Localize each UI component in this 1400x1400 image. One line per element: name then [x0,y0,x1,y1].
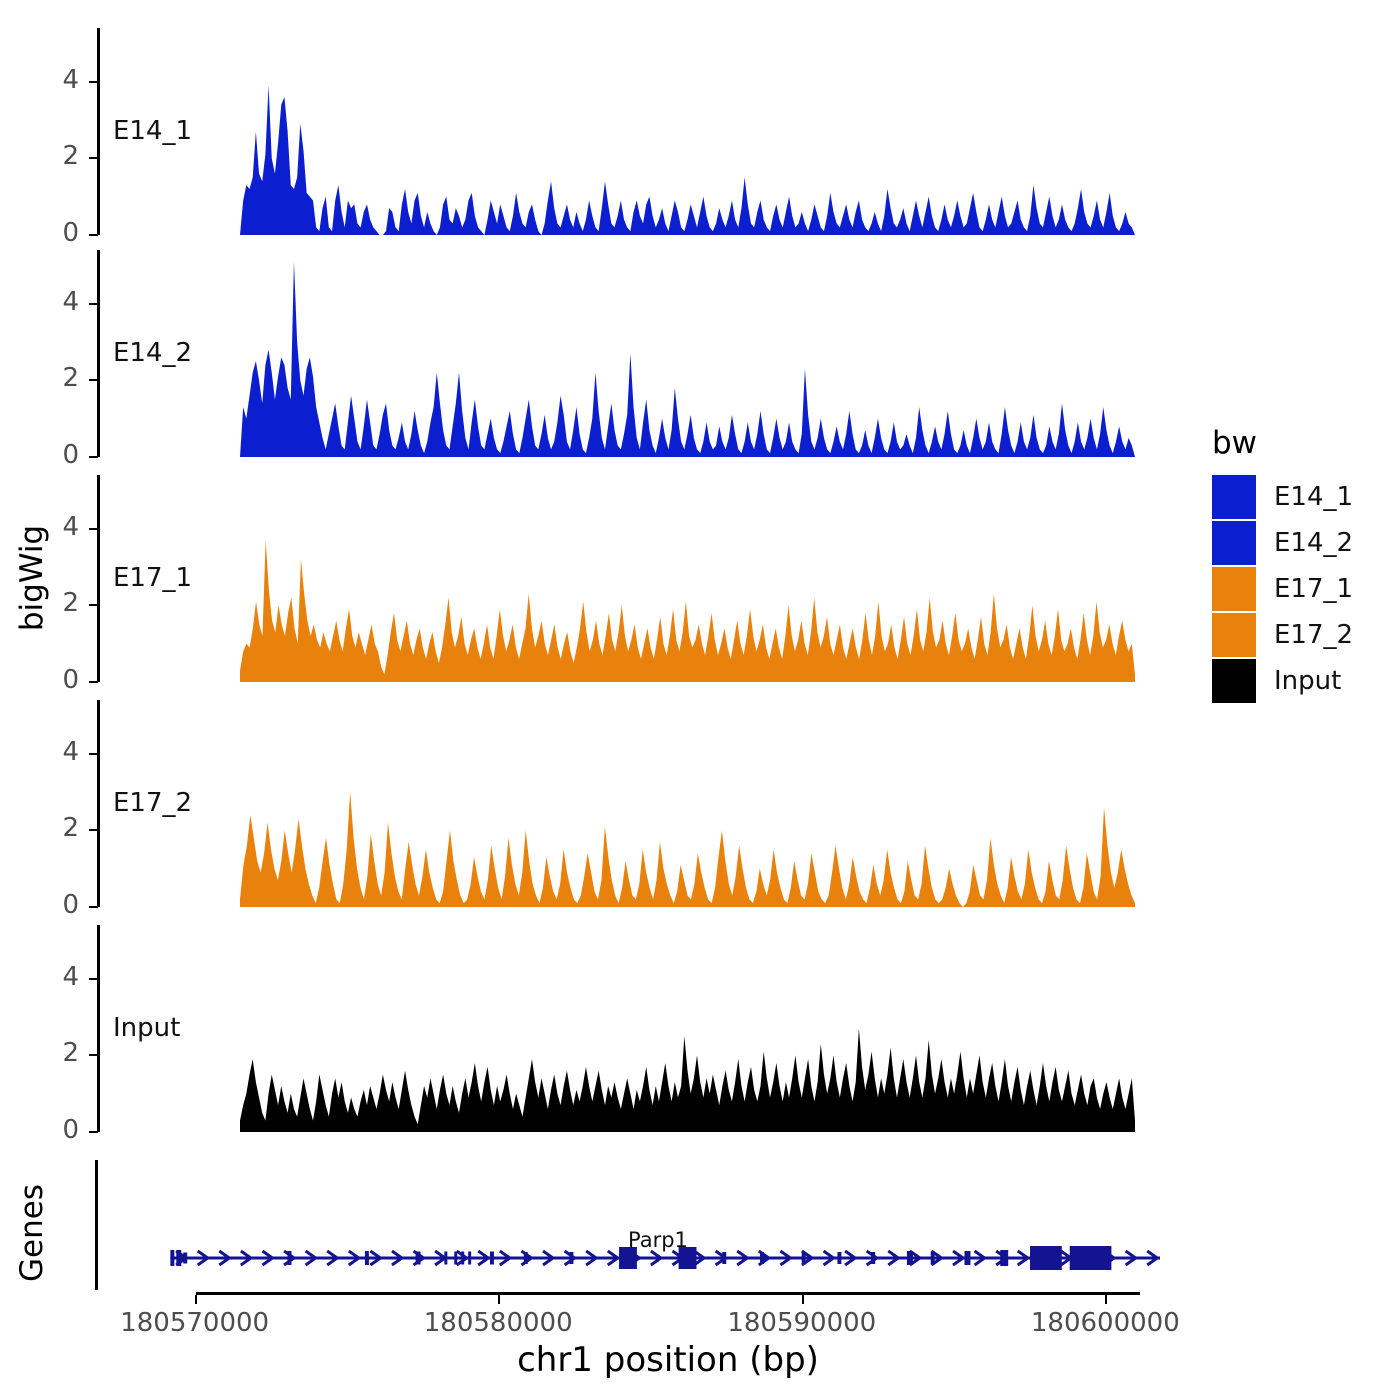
y-axis-line [97,925,100,1132]
facet-panel-e17_2: 024E17_2 [0,700,1160,907]
facet-panel-input: 024Input [0,925,1160,1132]
y-tick-label: 2 [17,588,79,618]
y-tick-mark [89,978,98,980]
facet-panel-e17_1: 024E17_1 [0,475,1160,682]
gene-track-axis-line [95,1160,98,1290]
y-tick-label: 4 [17,962,79,992]
legend-color-swatch [1212,613,1256,657]
legend-item-label: E14_2 [1274,528,1353,558]
legend-item-label: E14_1 [1274,482,1353,512]
track-area-input[interactable] [140,925,1160,1132]
legend-item-input[interactable]: Input [1212,659,1353,703]
x-axis-line [196,1292,1140,1295]
y-tick-mark [89,81,98,83]
facet-panel-e14_1: 024E14_1 [0,28,1160,235]
x-tick-label: 180580000 [388,1308,608,1338]
y-tick-mark [89,906,98,908]
x-tick-mark [802,1295,804,1304]
legend: bw E14_1E14_2E17_1E17_2Input [1212,425,1353,705]
facet-panel-e14_2: 024E14_2 [0,250,1160,457]
y-tick-mark [89,234,98,236]
legend-color-swatch [1212,567,1256,611]
y-tick-mark [89,528,98,530]
y-tick-label: 0 [17,440,79,470]
y-tick-label: 4 [17,512,79,542]
track-area-e14_2[interactable] [140,250,1160,457]
legend-item-e17_1[interactable]: E17_1 [1212,567,1353,611]
legend-item-label: Input [1274,666,1341,696]
y-tick-mark [89,681,98,683]
y-tick-label: 0 [17,1115,79,1145]
y-tick-mark [89,753,98,755]
y-tick-label: 2 [17,141,79,171]
x-tick-label: 180600000 [995,1308,1215,1338]
legend-title: bw [1212,425,1353,461]
y-tick-mark [89,157,98,159]
y-tick-label: 4 [17,65,79,95]
y-tick-mark [89,1131,98,1133]
x-tick-label: 180590000 [692,1308,912,1338]
y-tick-label: 4 [17,737,79,767]
x-tick-mark [1105,1295,1107,1304]
legend-item-label: E17_1 [1274,574,1353,604]
legend-color-swatch [1212,659,1256,703]
y-axis-line [97,28,100,235]
legend-color-swatch [1212,475,1256,519]
legend-item-e14_1[interactable]: E14_1 [1212,475,1353,519]
gene-model-area [140,1160,1160,1290]
y-tick-label: 2 [17,813,79,843]
x-axis-title: chr1 position (bp) [196,1340,1140,1380]
y-tick-label: 0 [17,218,79,248]
y-tick-label: 2 [17,363,79,393]
legend-item-e17_2[interactable]: E17_2 [1212,613,1353,657]
y-tick-label: 4 [17,287,79,317]
legend-color-swatch [1212,521,1256,565]
legend-items: E14_1E14_2E17_1E17_2Input [1212,475,1353,703]
legend-item-e14_2[interactable]: E14_2 [1212,521,1353,565]
y-axis-line [97,475,100,682]
track-area-e17_2[interactable] [140,700,1160,907]
x-tick-label: 180570000 [85,1308,305,1338]
y-tick-mark [89,379,98,381]
y-tick-mark [89,1054,98,1056]
y-tick-label: 2 [17,1038,79,1068]
track-area-e17_1[interactable] [140,475,1160,682]
y-tick-mark [89,604,98,606]
gene-model-svg[interactable] [140,1160,1160,1290]
y-tick-mark [89,456,98,458]
y-tick-label: 0 [17,665,79,695]
x-tick-mark [498,1295,500,1304]
legend-item-label: E17_2 [1274,620,1353,650]
x-tick-mark [195,1295,197,1304]
y-tick-mark [89,303,98,305]
y-tick-label: 0 [17,890,79,920]
track-area-e14_1[interactable] [140,28,1160,235]
y-axis-line [97,250,100,457]
y-tick-mark [89,829,98,831]
gene-track-panel: Parp1 [0,1160,1160,1310]
y-axis-line [97,700,100,907]
